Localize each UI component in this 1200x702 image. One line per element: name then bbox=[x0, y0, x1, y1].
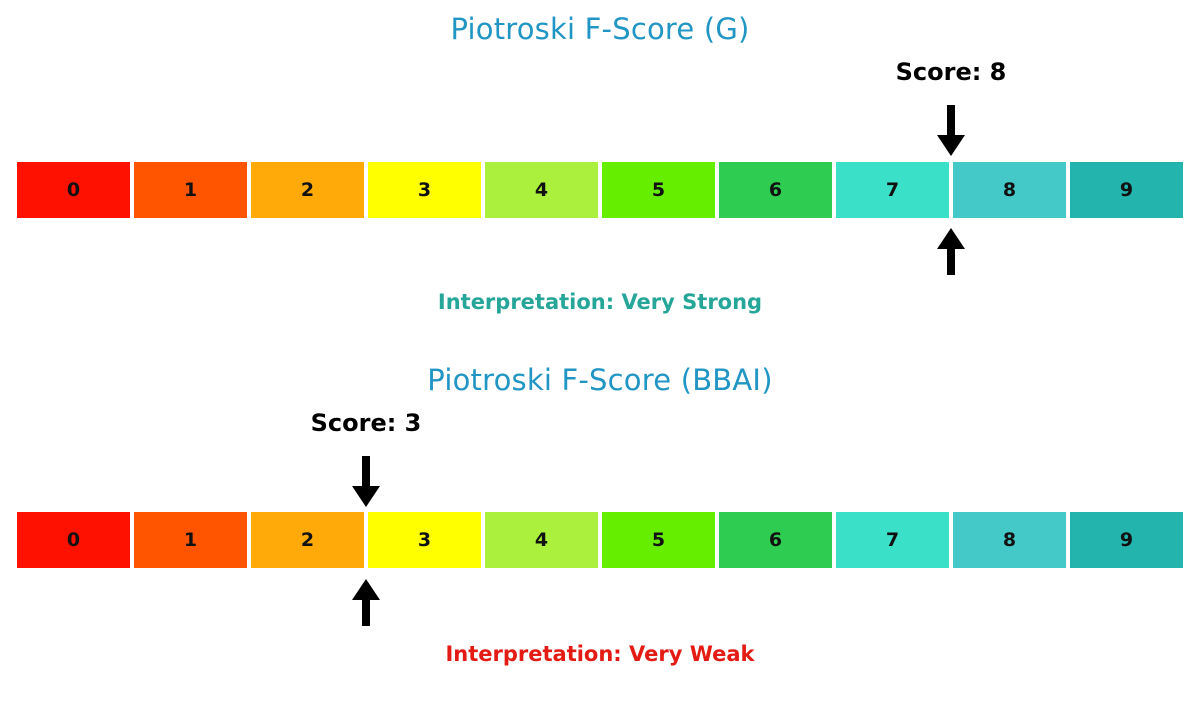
scale-cell-7-g: 7 bbox=[834, 161, 951, 219]
scale-cell-label: 9 bbox=[1120, 181, 1133, 200]
scale-cell-6-bbai: 6 bbox=[717, 511, 834, 569]
scale-cell-label: 0 bbox=[67, 531, 80, 550]
score-pointer-down-icon-g bbox=[934, 105, 968, 161]
scale-cell-label: 6 bbox=[769, 531, 782, 550]
scale-cell-7-bbai: 7 bbox=[834, 511, 951, 569]
scale-cell-3-bbai: 3 bbox=[366, 511, 483, 569]
gauge-title-bbai: Piotroski F-Score (BBAI) bbox=[0, 366, 1200, 395]
scale-cell-5-g: 5 bbox=[600, 161, 717, 219]
scale-cell-label: 5 bbox=[652, 531, 665, 550]
score-scale-bbai: 0123456789 bbox=[15, 511, 1185, 569]
score-annotation-bbai: Score: 3 bbox=[311, 411, 422, 435]
scale-cell-8-bbai: 8 bbox=[951, 511, 1068, 569]
interpretation-label-g: Interpretation: Very Strong bbox=[0, 292, 1200, 313]
scale-cell-label: 8 bbox=[1003, 181, 1016, 200]
scale-cell-label: 7 bbox=[886, 181, 899, 200]
scale-cell-label: 3 bbox=[418, 531, 431, 550]
scale-cell-label: 1 bbox=[184, 181, 197, 200]
gauge-title-g: Piotroski F-Score (G) bbox=[0, 15, 1200, 44]
scale-cell-label: 4 bbox=[535, 531, 548, 550]
scale-cell-0-bbai: 0 bbox=[15, 511, 132, 569]
scale-cell-0-g: 0 bbox=[15, 161, 132, 219]
score-pointer-up-icon-bbai bbox=[349, 579, 383, 631]
score-scale-bar-g: 0123456789 bbox=[15, 161, 1185, 219]
scale-cell-1-g: 1 bbox=[132, 161, 249, 219]
score-pointer-up-icon-g bbox=[934, 228, 968, 280]
scale-cell-label: 0 bbox=[67, 181, 80, 200]
scale-cell-8-g: 8 bbox=[951, 161, 1068, 219]
scale-cell-label: 5 bbox=[652, 181, 665, 200]
score-scale-bar-bbai: 0123456789 bbox=[15, 511, 1185, 569]
scale-cell-label: 8 bbox=[1003, 531, 1016, 550]
scale-cell-9-bbai: 9 bbox=[1068, 511, 1185, 569]
scale-cell-label: 6 bbox=[769, 181, 782, 200]
scale-cell-1-bbai: 1 bbox=[132, 511, 249, 569]
scale-cell-2-bbai: 2 bbox=[249, 511, 366, 569]
score-pointer-down-icon-bbai bbox=[349, 456, 383, 512]
scale-cell-label: 7 bbox=[886, 531, 899, 550]
scale-cell-9-g: 9 bbox=[1068, 161, 1185, 219]
scale-cell-5-bbai: 5 bbox=[600, 511, 717, 569]
scale-cell-4-bbai: 4 bbox=[483, 511, 600, 569]
scale-cell-label: 3 bbox=[418, 181, 431, 200]
scale-cell-label: 2 bbox=[301, 181, 314, 200]
scale-cell-label: 9 bbox=[1120, 531, 1133, 550]
scale-cell-label: 4 bbox=[535, 181, 548, 200]
score-annotation-g: Score: 8 bbox=[896, 60, 1007, 84]
scale-cell-3-g: 3 bbox=[366, 161, 483, 219]
scale-cell-4-g: 4 bbox=[483, 161, 600, 219]
interpretation-label-bbai: Interpretation: Very Weak bbox=[0, 644, 1200, 665]
score-scale-g: 0123456789 bbox=[15, 161, 1185, 219]
scale-cell-label: 2 bbox=[301, 531, 314, 550]
scale-cell-label: 1 bbox=[184, 531, 197, 550]
scale-cell-2-g: 2 bbox=[249, 161, 366, 219]
scale-cell-6-g: 6 bbox=[717, 161, 834, 219]
